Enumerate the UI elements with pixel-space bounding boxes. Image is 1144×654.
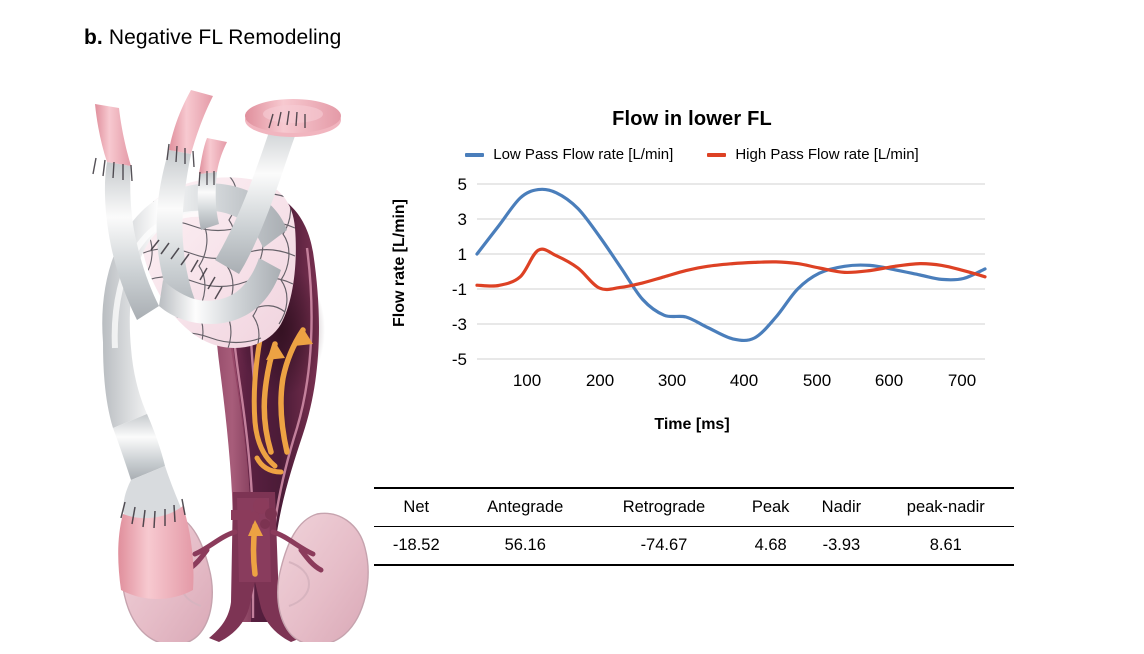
cell-peak: 4.68 xyxy=(736,527,805,566)
col-header-retrograde: Retrograde xyxy=(592,488,736,527)
x-tick-400: 400 xyxy=(730,371,758,390)
aortic-dissection-illustration xyxy=(55,62,395,642)
x-tick-labels: 100 200 300 400 500 600 700 xyxy=(513,371,976,390)
panel-letter: b. xyxy=(84,26,103,49)
table-header: Net Antegrade Retrograde Peak Nadir peak… xyxy=(374,488,1014,527)
x-tick-700: 700 xyxy=(948,371,976,390)
y-tick-labels: 5 3 1 -1 -3 -5 xyxy=(452,175,467,369)
col-header-peak-nadir: peak-nadir xyxy=(878,488,1014,527)
flow-chart: Flow in lower FL Low Pass Flow rate [L/m… xyxy=(372,108,1012,458)
legend-swatch-low-pass xyxy=(465,153,484,157)
cell-antegrade: 56.16 xyxy=(459,527,592,566)
y-tick-3: 3 xyxy=(458,210,467,229)
x-tick-100: 100 xyxy=(513,371,541,390)
table-row: -18.52 56.16 -74.67 4.68 -3.93 8.61 xyxy=(374,527,1014,566)
legend-label-low-pass: Low Pass Flow rate [L/min] xyxy=(493,146,673,163)
plot-area: 5 3 1 -1 -3 -5 100 200 300 400 500 600 7… xyxy=(372,170,1012,410)
y-axis-label: Flow rate [L/min] xyxy=(391,173,409,353)
cell-retrograde: -74.67 xyxy=(592,527,736,566)
flow-stats-table-wrapper: Net Antegrade Retrograde Peak Nadir peak… xyxy=(374,487,1014,566)
table-body: -18.52 56.16 -74.67 4.68 -3.93 8.61 xyxy=(374,527,1014,566)
y-tick-1: 1 xyxy=(458,245,467,264)
col-header-net: Net xyxy=(374,488,459,527)
panel-title-text: Negative FL Remodeling xyxy=(109,26,342,49)
x-tick-200: 200 xyxy=(586,371,614,390)
table-header-row: Net Antegrade Retrograde Peak Nadir peak… xyxy=(374,488,1014,527)
x-tick-500: 500 xyxy=(803,371,831,390)
x-tick-600: 600 xyxy=(875,371,903,390)
anastomosis-disc xyxy=(245,99,341,137)
ascending-aorta-graft xyxy=(113,414,194,599)
col-header-nadir: Nadir xyxy=(805,488,877,527)
legend-item-high-pass: High Pass Flow rate [L/min] xyxy=(707,146,918,163)
x-axis-label: Time [ms] xyxy=(372,416,1012,434)
page-title: b. Negative FL Remodeling xyxy=(84,26,341,50)
cell-peak-nadir: 8.61 xyxy=(878,527,1014,566)
flow-stats-table: Net Antegrade Retrograde Peak Nadir peak… xyxy=(374,487,1014,566)
y-tick-5: 5 xyxy=(458,175,467,194)
chart-legend: Low Pass Flow rate [L/min] High Pass Flo… xyxy=(372,146,1012,163)
chart-title: Flow in lower FL xyxy=(372,108,1012,131)
cell-net: -18.52 xyxy=(374,527,459,566)
col-header-antegrade: Antegrade xyxy=(459,488,592,527)
legend-swatch-high-pass xyxy=(707,153,726,157)
series-high-pass xyxy=(477,249,985,289)
y-tick-neg3: -3 xyxy=(452,315,467,334)
legend-label-high-pass: High Pass Flow rate [L/min] xyxy=(735,146,918,163)
x-tick-300: 300 xyxy=(658,371,686,390)
y-tick-neg1: -1 xyxy=(452,280,467,299)
cell-nadir: -3.93 xyxy=(805,527,877,566)
right-kidney xyxy=(278,513,368,642)
legend-item-low-pass: Low Pass Flow rate [L/min] xyxy=(465,146,673,163)
y-tick-neg5: -5 xyxy=(452,350,467,369)
col-header-peak: Peak xyxy=(736,488,805,527)
